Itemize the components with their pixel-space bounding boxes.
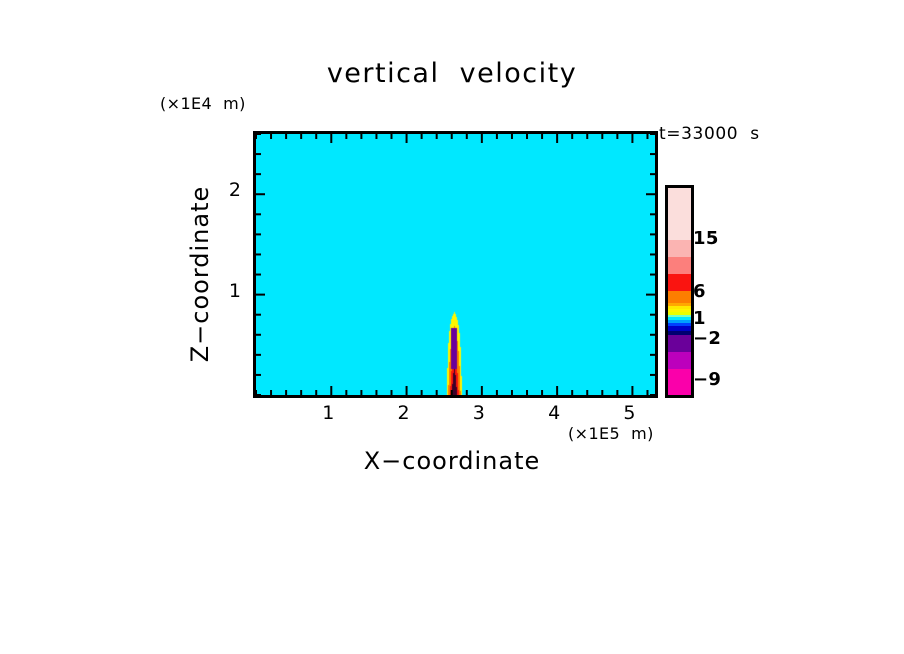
colorbar-tick-label: −2	[693, 328, 721, 349]
x-tick-label: 2	[384, 402, 424, 424]
colorbar-band	[668, 369, 691, 395]
plot-area	[253, 131, 658, 398]
colorbar-band	[668, 188, 691, 240]
colorbar-tick-label: 1	[693, 308, 706, 329]
x-axis-title: X−coordinate	[0, 447, 904, 475]
x-tick-label: 5	[609, 402, 649, 424]
colorbar-band	[668, 274, 691, 291]
colorbar-band	[668, 335, 691, 352]
colorbar-band	[668, 291, 691, 303]
colorbar-tick-label: 6	[693, 281, 706, 302]
colorbar	[665, 185, 694, 398]
y-tick-label: 2	[211, 179, 241, 201]
colorbar-band	[668, 352, 691, 369]
x-tick-label: 3	[459, 402, 499, 424]
colorbar-band	[668, 257, 691, 274]
colorbar-tick-label: 15	[693, 228, 719, 249]
x-axis-unit-label: (×1E5 m)	[568, 424, 654, 443]
time-annotation: t=33000 s	[659, 124, 760, 144]
colorbar-tick-label: −9	[693, 369, 721, 390]
velocity-field-image	[256, 134, 655, 395]
x-tick-label: 4	[534, 402, 574, 424]
figure-canvas: vertical velocity (×1E4 m) t=33000 s 123…	[0, 0, 904, 654]
y-tick-label: 1	[211, 280, 241, 302]
y-axis-title: Z−coordinate	[186, 64, 214, 484]
colorbar-band	[668, 240, 691, 257]
page-title: vertical velocity	[0, 58, 904, 89]
x-tick-label: 1	[308, 402, 348, 424]
